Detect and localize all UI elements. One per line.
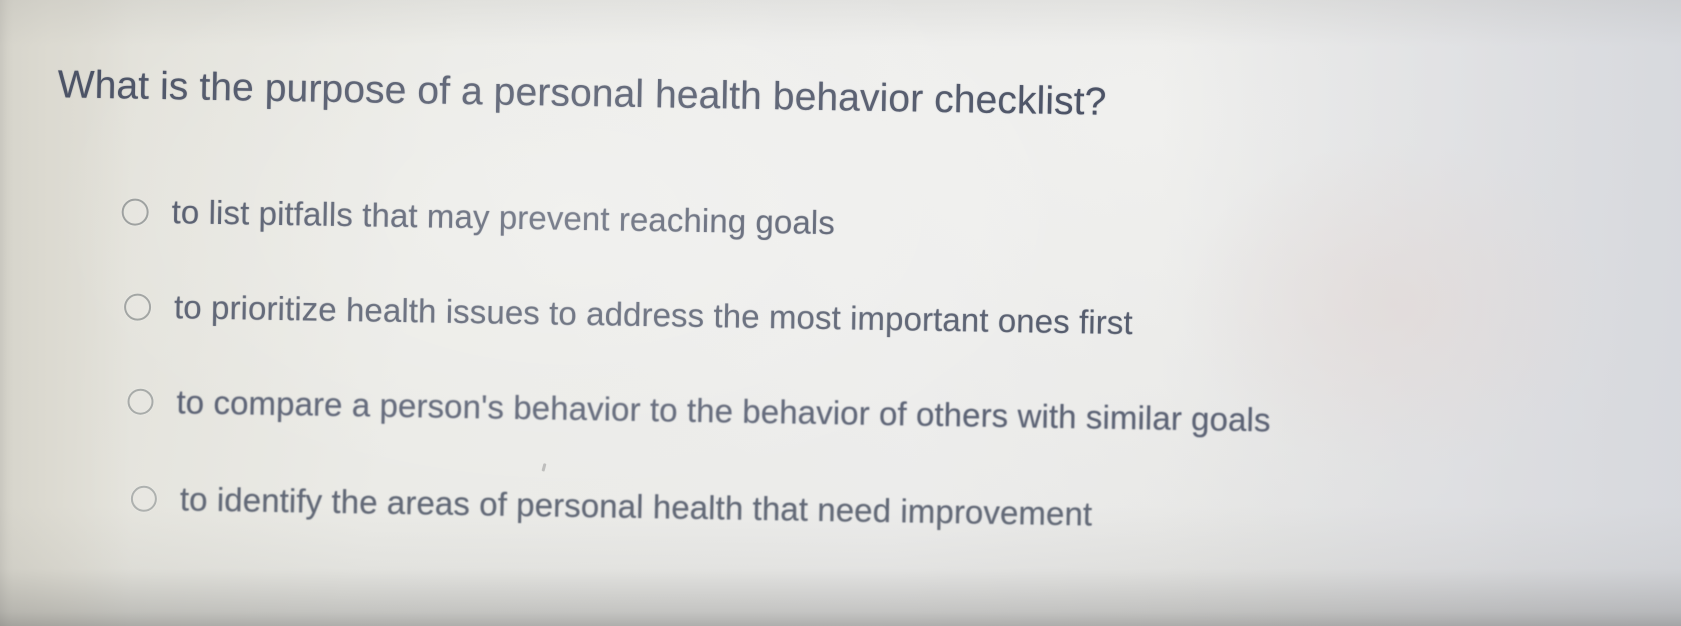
answer-option-a[interactable]: to list pitfalls that may prevent reachi… (121, 193, 835, 241)
answer-option-b-label: to prioritize health issues to address t… (174, 289, 1133, 341)
answer-option-c-label: to compare a person's behavior to the be… (176, 384, 1271, 438)
answer-option-b[interactable]: to prioritize health issues to address t… (124, 288, 1133, 341)
background-bottom-shade (0, 506, 1681, 626)
radio-button-icon-a[interactable] (121, 198, 148, 225)
image-speck-artifact (541, 463, 546, 472)
answer-option-c[interactable]: to compare a person's behavior to the be… (127, 383, 1271, 438)
question-text: What is the purpose of a personal health… (57, 63, 1106, 125)
radio-button-icon-c[interactable] (127, 389, 153, 415)
radio-button-icon-b[interactable] (124, 293, 151, 320)
quiz-screen: What is the purpose of a personal health… (0, 0, 1681, 626)
answer-option-a-label: to list pitfalls that may prevent reachi… (171, 194, 835, 241)
